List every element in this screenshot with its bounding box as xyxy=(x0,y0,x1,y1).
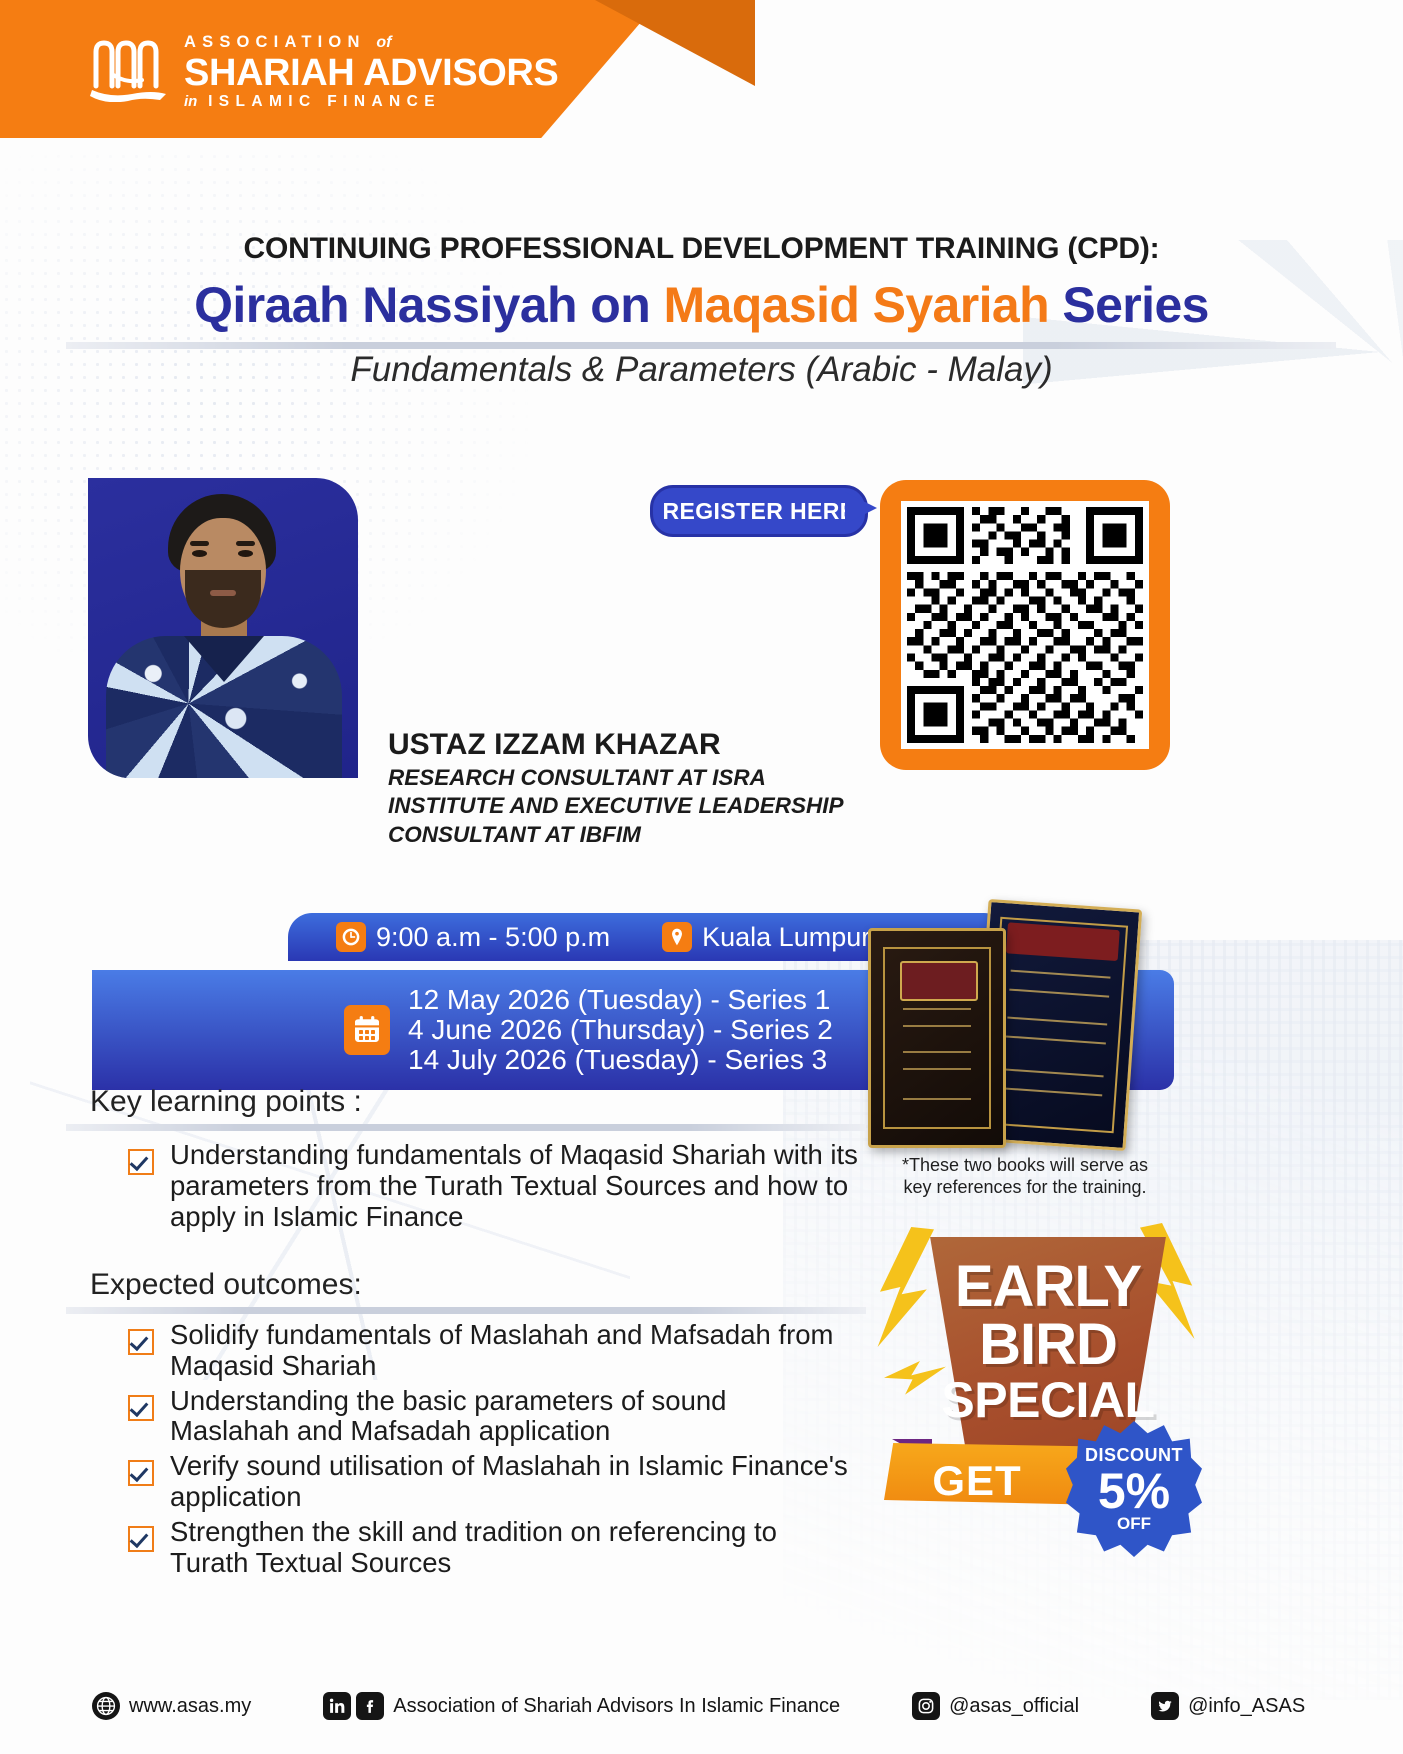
twitter-item[interactable]: @info_ASAS xyxy=(1151,1692,1305,1720)
early-bird-line3: SPECIAL xyxy=(914,1371,1182,1429)
date-series-1: 12 May 2026 (Tuesday) - Series 1 xyxy=(408,985,833,1015)
list-item: Strengthen the skill and tradition on re… xyxy=(128,1517,848,1579)
key-learning-heading: Key learning points : xyxy=(90,1085,362,1119)
list-item: Verify sound utilisation of Maslahah in … xyxy=(128,1451,848,1513)
early-bird-badge: EARLY BIRD SPECIAL GET DISCOUNT 5% OFF xyxy=(870,1215,1200,1515)
title-subtitle: Fundamentals & Parameters (Arabic - Mala… xyxy=(0,350,1403,390)
speaker-photo xyxy=(88,478,358,778)
title-highlight: Maqasid Syariah xyxy=(663,277,1049,333)
book-alqawaid-alkubra xyxy=(868,928,1006,1148)
discount-seal-value: 5% xyxy=(1066,1468,1202,1514)
speaker-credential-line3: CONSULTANT AT IBFIM xyxy=(388,821,843,849)
qr-code[interactable] xyxy=(901,501,1149,749)
header-banner: ASSOCIATION of SHARIAH ADVISORS in ISLAM… xyxy=(0,0,1403,140)
instagram-text: @asas_official xyxy=(949,1695,1079,1718)
speaker-eyebrow-right xyxy=(236,541,255,546)
list-item-text: Understanding the basic parameters of so… xyxy=(170,1386,848,1448)
date-list: 12 May 2026 (Tuesday) - Series 1 4 June … xyxy=(408,985,833,1076)
key-learning-list: Understanding fundamentals of Maqasid Sh… xyxy=(128,1140,858,1236)
clock-icon xyxy=(336,922,366,952)
time-item: 9:00 a.m - 5:00 p.m xyxy=(336,922,610,953)
speaker-info: USTAZ IZZAM KHAZAR RESEARCH CONSULTANT A… xyxy=(388,728,843,849)
organization-logo: ASSOCIATION of SHARIAH ADVISORS in ISLAM… xyxy=(86,30,558,110)
checkbox-icon xyxy=(128,1526,154,1552)
page-title: Qiraah Nassiyah on Maqasid Syariah Serie… xyxy=(0,276,1403,334)
reference-books-image xyxy=(862,900,1182,1160)
divider-key-learning xyxy=(66,1124,866,1131)
books-caption-line2: key references for the training. xyxy=(860,1177,1190,1199)
facebook-icon[interactable] xyxy=(356,1692,384,1720)
expected-outcomes-heading: Expected outcomes: xyxy=(90,1268,362,1302)
title-block: CONTINUING PROFESSIONAL DEVELOPMENT TRAI… xyxy=(0,232,1403,334)
list-item-text: Solidify fundamentals of Maslahah and Ma… xyxy=(170,1320,848,1382)
speaker-credential-line1: RESEARCH CONSULTANT AT ISRA xyxy=(388,764,843,792)
footer-bar: www.asas.my Association of Shariah Advis… xyxy=(0,1676,1403,1736)
expected-outcomes-list: Solidify fundamentals of Maslahah and Ma… xyxy=(128,1320,848,1582)
list-item: Understanding fundamentals of Maqasid Sh… xyxy=(128,1140,858,1232)
website-item[interactable]: www.asas.my xyxy=(92,1692,251,1720)
list-item-text: Verify sound utilisation of Maslahah in … xyxy=(170,1451,848,1513)
early-bird-line2: BIRD xyxy=(914,1311,1182,1378)
discount-seal-bottom: OFF xyxy=(1066,1514,1202,1534)
early-bird-line1: EARLY xyxy=(914,1253,1182,1320)
list-item: Solidify fundamentals of Maslahah and Ma… xyxy=(128,1320,848,1382)
list-item-text: Strengthen the skill and tradition on re… xyxy=(170,1517,848,1579)
list-item-text: Understanding fundamentals of Maqasid Sh… xyxy=(170,1140,858,1232)
twitter-text: @info_ASAS xyxy=(1188,1695,1305,1718)
social-name-item[interactable]: Association of Shariah Advisors In Islam… xyxy=(323,1692,840,1720)
instagram-item[interactable]: @asas_official xyxy=(912,1692,1079,1720)
location-pin-icon xyxy=(662,922,692,952)
arabic-calligraphy-icon xyxy=(86,30,170,102)
logo-line2: SHARIAH ADVISORS xyxy=(184,54,558,92)
logo-line1-italic: of xyxy=(376,34,391,51)
logo-line3-italic: in xyxy=(184,93,197,110)
checkbox-icon xyxy=(128,1460,154,1486)
twitter-icon xyxy=(1151,1692,1179,1720)
speaker-mouth xyxy=(210,590,236,596)
divider-expected-outcomes xyxy=(66,1307,866,1314)
calendar-icon xyxy=(344,1005,390,1055)
speaker-eyebrow-left xyxy=(190,541,209,546)
speaker-credential-line2: INSTITUTE AND EXECUTIVE LEADERSHIP xyxy=(388,792,843,820)
books-caption-line1: *These two books will serve as xyxy=(860,1155,1190,1177)
location-item: Kuala Lumpur xyxy=(662,922,870,953)
checkbox-icon xyxy=(128,1329,154,1355)
checkbox-icon xyxy=(128,1149,154,1175)
date-series-3: 14 July 2026 (Tuesday) - Series 3 xyxy=(408,1045,833,1075)
speaker-name: USTAZ IZZAM KHAZAR xyxy=(388,728,843,762)
title-part1: Qiraah Nassiyah on xyxy=(194,277,663,333)
speaker-eye-right xyxy=(238,550,253,557)
books-caption: *These two books will serve as key refer… xyxy=(860,1155,1190,1198)
logo-line3: ISLAMIC FINANCE xyxy=(208,93,441,110)
checkbox-icon xyxy=(128,1395,154,1421)
divider-top xyxy=(66,342,1336,349)
time-text: 9:00 a.m - 5:00 p.m xyxy=(376,922,610,953)
get-label: GET xyxy=(884,1457,1070,1505)
qr-code-frame xyxy=(880,480,1170,770)
speaker-eye-left xyxy=(192,550,207,557)
social-name-text: Association of Shariah Advisors In Islam… xyxy=(393,1695,840,1718)
logo-line1: ASSOCIATION xyxy=(184,33,366,51)
date-series-2: 4 June 2026 (Thursday) - Series 2 xyxy=(408,1015,833,1045)
website-text: www.asas.my xyxy=(129,1695,251,1718)
globe-icon xyxy=(92,1692,120,1720)
register-here-button[interactable]: REGISTER HERE xyxy=(650,485,868,537)
location-text: Kuala Lumpur xyxy=(702,922,870,953)
speaker-beard xyxy=(185,570,261,628)
poster-root: ASSOCIATION of SHARIAH ADVISORS in ISLAM… xyxy=(0,0,1403,1754)
list-item: Understanding the basic parameters of so… xyxy=(128,1386,848,1448)
instagram-icon xyxy=(912,1692,940,1720)
linkedin-icon[interactable] xyxy=(323,1692,351,1720)
logo-wordmark: ASSOCIATION of SHARIAH ADVISORS in ISLAM… xyxy=(184,30,558,110)
title-part2: Series xyxy=(1049,277,1209,333)
title-kicker: CONTINUING PROFESSIONAL DEVELOPMENT TRAI… xyxy=(0,232,1403,266)
